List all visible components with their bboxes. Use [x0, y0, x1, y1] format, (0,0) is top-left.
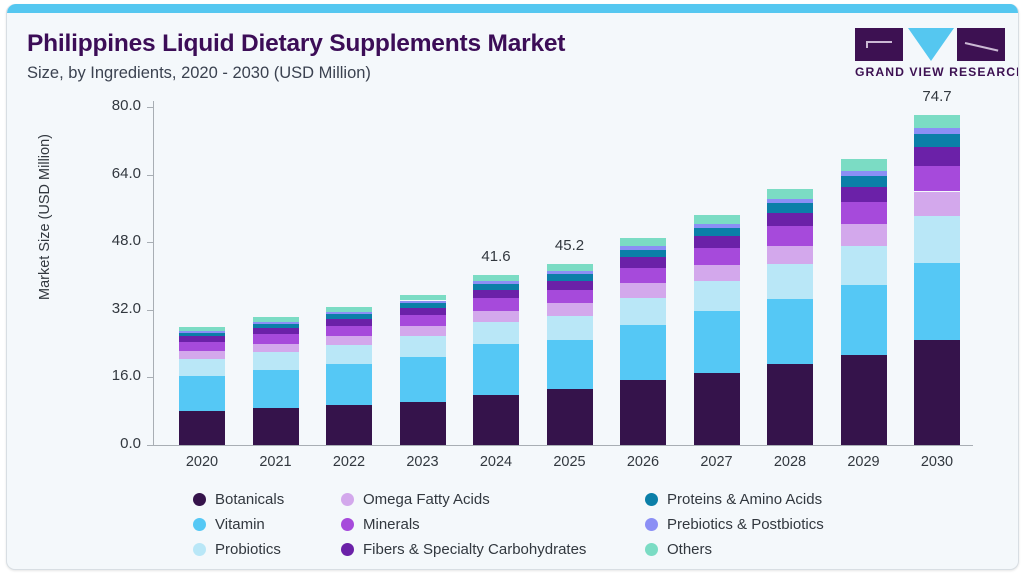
bar-segment[interactable] — [473, 275, 519, 281]
legend-color-swatch-icon — [193, 543, 206, 556]
bar-segment[interactable] — [400, 336, 446, 357]
bar-segment[interactable] — [914, 115, 960, 129]
bar-stack[interactable] — [253, 107, 299, 445]
bar-segment[interactable] — [473, 311, 519, 322]
bar-segment[interactable] — [620, 250, 666, 258]
bar-segment[interactable] — [400, 315, 446, 326]
y-axis-tick-mark — [147, 445, 154, 446]
bar-segment[interactable] — [179, 342, 225, 351]
bar-segment[interactable] — [914, 340, 960, 445]
bar-segment[interactable] — [473, 344, 519, 396]
bar-segment[interactable] — [547, 389, 593, 445]
bar-segment[interactable] — [694, 215, 740, 224]
bar-stack[interactable] — [694, 107, 740, 445]
bar-segment[interactable] — [841, 187, 887, 203]
bar-segment[interactable] — [473, 281, 519, 284]
bar-segment[interactable] — [400, 303, 446, 308]
bar-segment[interactable] — [179, 351, 225, 359]
legend-item[interactable]: Others — [645, 541, 712, 558]
bar-segment[interactable] — [841, 176, 887, 187]
bar-segment[interactable] — [914, 216, 960, 263]
legend-label: Prebiotics & Postbiotics — [667, 516, 824, 533]
bar-stack[interactable] — [473, 107, 519, 445]
bar-segment[interactable] — [179, 327, 225, 331]
bar-segment[interactable] — [547, 340, 593, 389]
x-axis-tick-label: 2026 — [608, 454, 678, 470]
bar-stack[interactable] — [547, 107, 593, 445]
bar-segment[interactable] — [326, 319, 372, 326]
bar-segment[interactable] — [473, 395, 519, 445]
bar-segment[interactable] — [326, 364, 372, 405]
bar-segment[interactable] — [841, 171, 887, 176]
x-axis-tick-label: 2030 — [902, 454, 972, 470]
bar-value-label: 45.2 — [535, 237, 605, 254]
bar-segment[interactable] — [179, 333, 225, 337]
bar-segment[interactable] — [694, 373, 740, 445]
y-axis-tick-mark — [147, 175, 154, 176]
bar-segment[interactable] — [179, 331, 225, 333]
y-axis-tick-mark — [147, 107, 154, 108]
y-axis-tick-label: 48.0 — [81, 232, 141, 249]
bar-segment[interactable] — [253, 322, 299, 324]
legend-item[interactable]: Fibers & Specialty Carbohydrates — [341, 541, 586, 558]
bar-segment[interactable] — [253, 352, 299, 370]
bar-segment[interactable] — [694, 228, 740, 236]
bar-segment[interactable] — [326, 336, 372, 345]
x-axis-tick-label: 2023 — [388, 454, 458, 470]
bar-segment[interactable] — [767, 213, 813, 227]
bar-segment[interactable] — [767, 203, 813, 213]
y-axis-tick-label: 80.0 — [81, 97, 141, 114]
legend-label: Botanicals — [215, 491, 284, 508]
bar-segment[interactable] — [914, 134, 960, 147]
x-axis-line — [153, 445, 973, 446]
y-axis-tick-mark — [147, 310, 154, 311]
bar-segment[interactable] — [694, 281, 740, 311]
bar-segment[interactable] — [547, 303, 593, 316]
bar-value-label: 41.6 — [461, 248, 531, 265]
bar-segment[interactable] — [914, 263, 960, 340]
y-axis-tick-mark — [147, 242, 154, 243]
bar-segment[interactable] — [914, 192, 960, 217]
bar-stack[interactable] — [400, 107, 446, 445]
y-axis-tick-label: 32.0 — [81, 300, 141, 317]
bar-segment[interactable] — [253, 328, 299, 334]
y-axis-tick-label: 16.0 — [81, 367, 141, 384]
bar-segment[interactable] — [694, 236, 740, 248]
bar-segment[interactable] — [400, 402, 446, 445]
legend-color-swatch-icon — [341, 518, 354, 531]
bar-segment[interactable] — [547, 316, 593, 340]
bar-stack[interactable] — [179, 107, 225, 445]
bar-segment[interactable] — [767, 264, 813, 299]
legend-label: Omega Fatty Acids — [363, 491, 490, 508]
bar-segment[interactable] — [620, 238, 666, 246]
x-axis-tick-label: 2025 — [535, 454, 605, 470]
bar-segment[interactable] — [547, 290, 593, 304]
bar-segment[interactable] — [694, 311, 740, 373]
bar-segment[interactable] — [620, 283, 666, 297]
bar-segment[interactable] — [326, 405, 372, 445]
legend-color-swatch-icon — [193, 493, 206, 506]
x-axis-tick-label: 2022 — [314, 454, 384, 470]
bar-segment[interactable] — [841, 159, 887, 170]
legend-item[interactable]: Probiotics — [193, 541, 281, 558]
y-axis-tick-mark — [147, 377, 154, 378]
legend-item[interactable]: Minerals — [341, 516, 420, 533]
bar-segment[interactable] — [326, 307, 372, 312]
bar-segment[interactable] — [694, 224, 740, 228]
bar-segment[interactable] — [326, 345, 372, 364]
bar-stack[interactable] — [914, 107, 960, 445]
bar-segment[interactable] — [326, 326, 372, 336]
bar-stack[interactable] — [841, 107, 887, 445]
legend-label: Fibers & Specialty Carbohydrates — [363, 541, 586, 558]
bar-segment[interactable] — [841, 285, 887, 355]
x-axis-tick-label: 2027 — [682, 454, 752, 470]
bar-segment[interactable] — [179, 336, 225, 342]
y-axis-line — [153, 101, 154, 445]
bar-segment[interactable] — [620, 325, 666, 380]
bar-segment[interactable] — [400, 357, 446, 402]
bar-stack[interactable] — [620, 107, 666, 445]
bar-segment[interactable] — [841, 202, 887, 224]
bar-segment[interactable] — [400, 301, 446, 303]
legend-label: Proteins & Amino Acids — [667, 491, 822, 508]
bar-segment[interactable] — [473, 284, 519, 290]
bar-segment[interactable] — [547, 264, 593, 271]
bar-segment[interactable] — [767, 226, 813, 245]
legend-color-swatch-icon — [341, 543, 354, 556]
bar-segment[interactable] — [767, 189, 813, 199]
legend-item[interactable]: Omega Fatty Acids — [341, 491, 490, 508]
legend-label: Probiotics — [215, 541, 281, 558]
bar-segment[interactable] — [253, 344, 299, 352]
legend-item[interactable]: Vitamin — [193, 516, 265, 533]
bar-segment[interactable] — [914, 166, 960, 192]
bar-stack[interactable] — [326, 107, 372, 445]
bar-segment[interactable] — [620, 257, 666, 268]
legend-color-swatch-icon — [341, 493, 354, 506]
bar-segment[interactable] — [253, 408, 299, 445]
bar-segment[interactable] — [841, 355, 887, 445]
x-axis-tick-label: 2024 — [461, 454, 531, 470]
legend-color-swatch-icon — [645, 518, 658, 531]
legend-item[interactable]: Proteins & Amino Acids — [645, 491, 822, 508]
bar-segment[interactable] — [914, 128, 960, 134]
y-axis-label: Market Size (USD Million) — [37, 87, 53, 347]
bar-segment[interactable] — [400, 308, 446, 316]
bar-segment[interactable] — [253, 317, 299, 322]
stacked-bar-chart: Market Size (USD Million) 0.016.032.048.… — [7, 4, 1019, 570]
bar-segment[interactable] — [547, 281, 593, 290]
bar-segment[interactable] — [694, 248, 740, 265]
legend-label: Vitamin — [215, 516, 265, 533]
bar-segment[interactable] — [473, 322, 519, 344]
legend-color-swatch-icon — [645, 493, 658, 506]
bar-segment[interactable] — [620, 298, 666, 325]
x-axis-tick-label: 2029 — [829, 454, 899, 470]
bar-segment[interactable] — [767, 364, 813, 445]
bar-segment[interactable] — [253, 324, 299, 328]
chart-card: Philippines Liquid Dietary Supplements M… — [6, 4, 1019, 570]
bar-segment[interactable] — [841, 224, 887, 245]
chart-legend: BotanicalsVitaminProbioticsOmega Fatty A… — [193, 491, 893, 565]
bar-segment[interactable] — [547, 274, 593, 281]
y-axis-tick-label: 64.0 — [81, 165, 141, 182]
bar-segment[interactable] — [841, 246, 887, 286]
x-axis-tick-label: 2021 — [241, 454, 311, 470]
bar-segment[interactable] — [179, 376, 225, 411]
bar-segment[interactable] — [473, 298, 519, 310]
y-axis-tick-label: 0.0 — [81, 435, 141, 452]
legend-item[interactable]: Prebiotics & Postbiotics — [645, 516, 824, 533]
bar-segment[interactable] — [620, 268, 666, 283]
bar-stack[interactable] — [767, 107, 813, 445]
legend-color-swatch-icon — [645, 543, 658, 556]
bar-segment[interactable] — [253, 370, 299, 408]
bar-segment[interactable] — [326, 312, 372, 314]
bar-segment[interactable] — [400, 295, 446, 300]
legend-label: Minerals — [363, 516, 420, 533]
x-axis-tick-label: 2028 — [755, 454, 825, 470]
bar-segment[interactable] — [767, 299, 813, 364]
bar-segment[interactable] — [473, 290, 519, 298]
bar-segment[interactable] — [767, 246, 813, 265]
bar-segment[interactable] — [620, 380, 666, 445]
legend-color-swatch-icon — [193, 518, 206, 531]
bar-segment[interactable] — [326, 314, 372, 319]
legend-item[interactable]: Botanicals — [193, 491, 284, 508]
bar-segment[interactable] — [767, 199, 813, 203]
bar-value-label: 74.7 — [902, 88, 972, 105]
legend-label: Others — [667, 541, 712, 558]
bar-segment[interactable] — [914, 147, 960, 166]
bar-segment[interactable] — [253, 334, 299, 343]
bar-segment[interactable] — [179, 411, 225, 445]
bar-segment[interactable] — [620, 246, 666, 249]
bar-segment[interactable] — [694, 265, 740, 281]
x-axis-tick-label: 2020 — [167, 454, 237, 470]
bar-segment[interactable] — [179, 359, 225, 375]
bar-segment[interactable] — [400, 326, 446, 336]
bar-segment[interactable] — [547, 271, 593, 274]
